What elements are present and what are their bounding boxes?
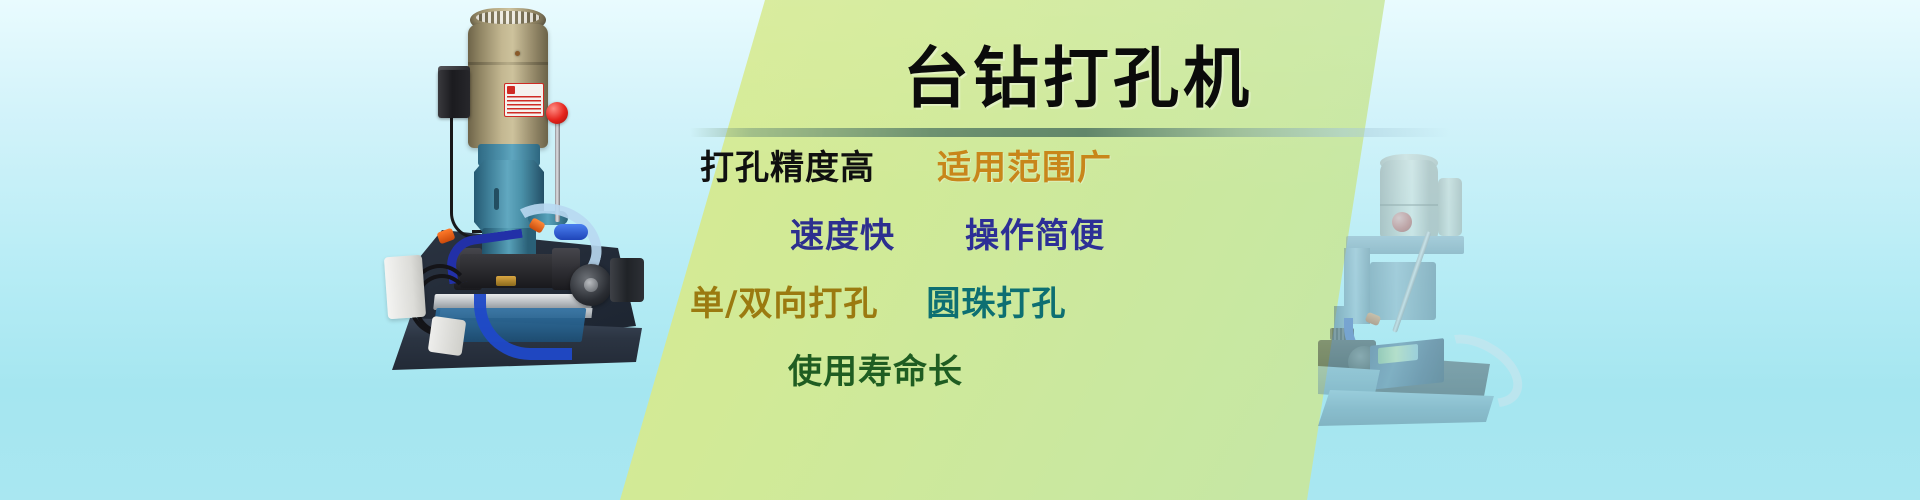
feature-row: 速度快 操作简便 — [660, 208, 1420, 276]
drill-head-slot — [494, 188, 499, 210]
product-banner: 台钻打孔机 打孔精度高 适用范围广 速度快 操作简便 单/双向打孔 圆珠打孔 使… — [0, 0, 1920, 500]
motor-nameplate-label — [504, 83, 544, 117]
feature-item-long-lifespan: 使用寿命长 — [788, 344, 963, 393]
feature-row: 使用寿命长 — [660, 344, 1420, 412]
side-gearbox — [610, 258, 644, 302]
feature-item-easy-operation: 操作简便 — [965, 208, 1105, 257]
white-accessory-box — [384, 255, 426, 319]
junction-box — [438, 70, 470, 118]
feature-item-accuracy: 打孔精度高 — [700, 140, 875, 189]
white-accessory-box-small — [428, 316, 467, 356]
motor-seam — [468, 62, 548, 65]
feature-item-single-double-drilling: 单/双向打孔 — [690, 276, 878, 325]
capacitor-housing — [1438, 178, 1462, 236]
feature-item-versatility: 适用范围广 — [937, 140, 1112, 189]
handwheel-hub — [584, 278, 598, 292]
blue-connector — [554, 224, 588, 240]
title-divider — [690, 128, 1450, 137]
feature-item-bead-drilling: 圆珠打孔 — [926, 276, 1066, 325]
brass-fitting — [496, 276, 516, 286]
motor-screw — [515, 51, 520, 56]
feature-list: 打孔精度高 适用范围广 速度快 操作简便 单/双向打孔 圆珠打孔 使用寿命长 — [660, 140, 1420, 412]
red-lever-knob — [546, 102, 568, 124]
page-title: 台钻打孔机 — [758, 38, 1398, 118]
feature-row: 单/双向打孔 圆珠打孔 — [660, 276, 1420, 344]
feature-row: 打孔精度高 适用范围广 — [660, 140, 1420, 208]
feature-item-speed: 速度快 — [790, 208, 895, 257]
left-machine-photo — [378, 8, 648, 368]
motor-vent-icon — [476, 11, 540, 24]
